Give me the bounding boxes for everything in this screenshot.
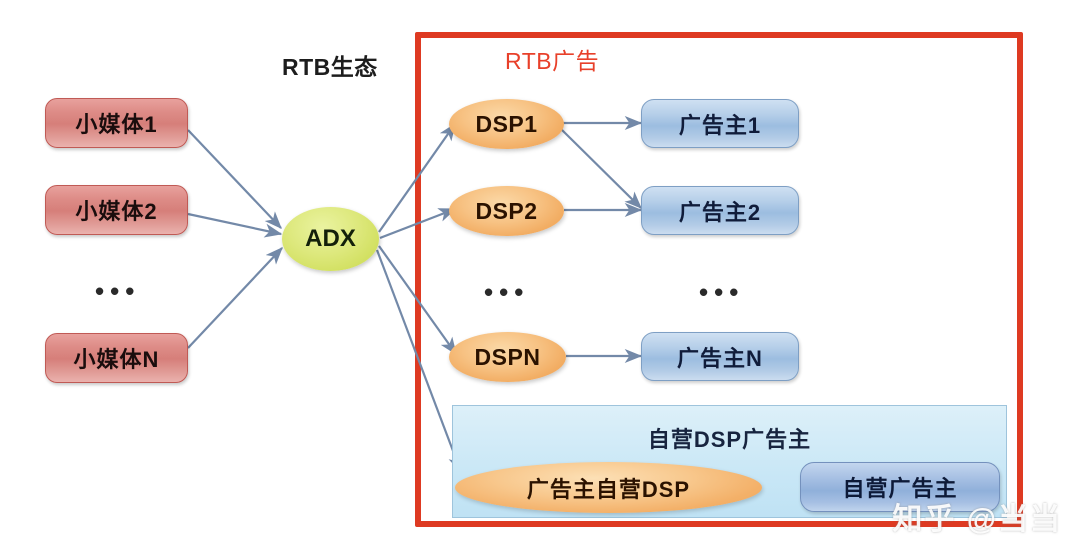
- self-operated-dsp-panel-title: 自营DSP广告主: [453, 422, 1006, 454]
- dsp-node-1[interactable]: DSP1: [449, 99, 564, 149]
- advertiser-box-n[interactable]: 广告主N: [641, 332, 799, 381]
- edge-media1-to-adx: [188, 130, 281, 228]
- page-title-rtb-ecosystem: RTB生态: [282, 48, 378, 82]
- advertiser-box-2[interactable]: 广告主2: [641, 186, 799, 235]
- adx-node[interactable]: ADX: [282, 207, 379, 271]
- watermark: 知乎 @当当: [892, 494, 1062, 538]
- diagram-canvas: RTB生态 RTB广告 小媒体1: [0, 0, 1080, 550]
- self-operated-dsp-node[interactable]: 广告主自营DSP: [455, 462, 762, 513]
- advertiser-box-1-label: 广告主1: [679, 108, 761, 140]
- advertiser-box-1[interactable]: 广告主1: [641, 99, 799, 148]
- media-box-2[interactable]: 小媒体2: [45, 185, 188, 235]
- dsp-node-n[interactable]: DSPN: [449, 332, 566, 382]
- media-box-1[interactable]: 小媒体1: [45, 98, 188, 148]
- self-operated-dsp-label: 广告主自营DSP: [527, 472, 690, 504]
- dsp-node-2-label: DSP2: [475, 198, 537, 225]
- media-box-n-label: 小媒体N: [74, 342, 160, 374]
- region-title-rtb-advertising: RTB广告: [505, 42, 599, 76]
- media-box-2-label: 小媒体2: [75, 194, 157, 226]
- adx-label: ADX: [305, 225, 356, 253]
- dsp-ellipsis: •••: [484, 279, 529, 305]
- advertiser-box-2-label: 广告主2: [679, 195, 761, 227]
- dsp-node-n-label: DSPN: [475, 344, 541, 371]
- media-box-1-label: 小媒体1: [75, 107, 157, 139]
- media-ellipsis: •••: [95, 278, 140, 304]
- advertiser-ellipsis: •••: [699, 279, 744, 305]
- dsp-node-2[interactable]: DSP2: [449, 186, 564, 236]
- media-box-n[interactable]: 小媒体N: [45, 333, 188, 383]
- dsp-node-1-label: DSP1: [475, 111, 537, 138]
- edge-mediaN-to-adx: [188, 248, 282, 348]
- edge-media2-to-adx: [188, 214, 281, 234]
- advertiser-box-n-label: 广告主N: [677, 341, 763, 373]
